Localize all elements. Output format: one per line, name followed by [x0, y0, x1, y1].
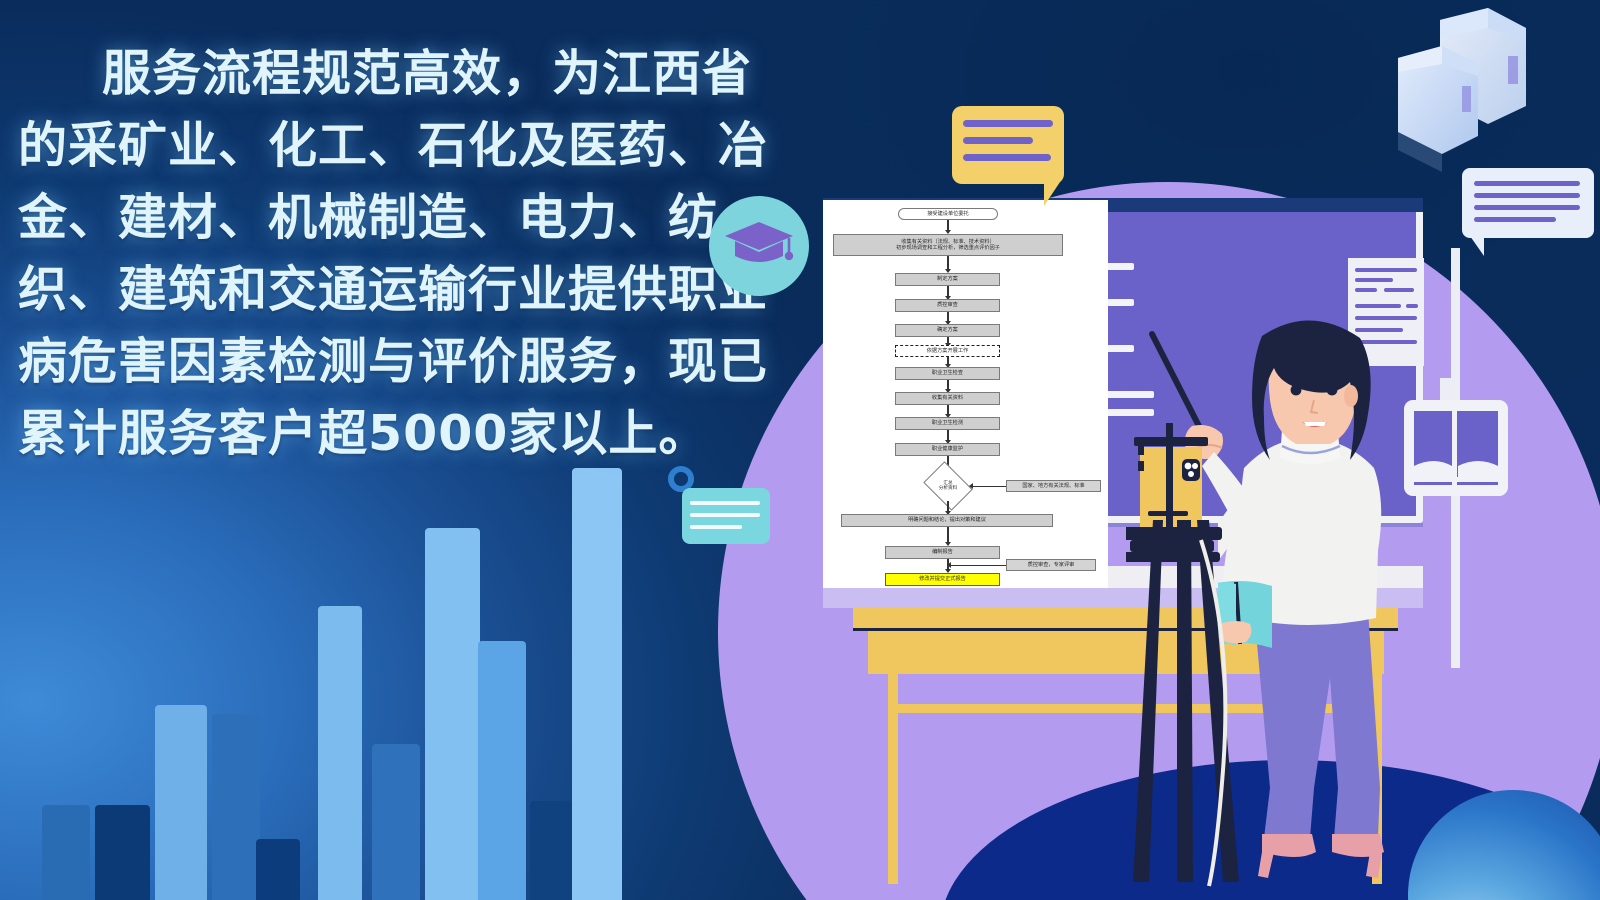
- speech-bubble-tail: [1044, 182, 1060, 206]
- chart-bar: [425, 528, 480, 900]
- chart-bar: [530, 801, 578, 900]
- books-icon: [1380, 6, 1530, 181]
- flow-node-n11-label: 汇总 分析资料: [939, 481, 957, 492]
- chart-bar: [42, 805, 90, 900]
- chart-bar: [212, 714, 260, 900]
- chart-bar: [256, 839, 300, 900]
- flow-node-n4: 质控审查: [895, 299, 1000, 312]
- flowchart-panel: 接受建设单位委托 收集有关资料（法规、标准、技术资料） 初步现场调查和工程分析，…: [823, 200, 1108, 588]
- flow-node-n12: 国家、地方有关法规、标准: [1006, 480, 1101, 492]
- flow-node-n3: 制定方案: [895, 273, 1000, 286]
- flow-node-n2: 收集有关资料（法规、标准、技术资料） 初步现场调查和工程分析，筛选重点评价因子: [833, 234, 1063, 256]
- document-bubble-icon: [1462, 168, 1594, 238]
- chart-bar: [318, 606, 362, 900]
- flow-node-n8: 收集有关资料: [895, 392, 1000, 405]
- document-bubble-tail: [1470, 236, 1484, 256]
- chart-bar: [572, 468, 622, 900]
- background-bar-chart: [0, 440, 700, 900]
- tripod-stand: [1105, 520, 1255, 890]
- chart-bar: [95, 805, 150, 900]
- flow-node-n11: 汇总 分析资料: [928, 471, 968, 501]
- flow-node-n10: 职业健康监护: [895, 443, 1000, 456]
- page-title: 服务流程规范高效，为江西省的采矿业、化工、石化及医药、冶金、建材、机械制造、电力…: [18, 38, 778, 470]
- flow-node-n13: 明确问题和结论，提出对策和建议: [841, 514, 1053, 527]
- poster-canvas: 接受建设单位委托 收集有关资料（法规、标准、技术资料） 初步现场调查和工程分析，…: [0, 0, 1600, 900]
- graduation-cap-badge: [709, 196, 809, 296]
- flow-node-n16: 修改并提交正式报告: [885, 573, 1000, 586]
- flow-node-n7: 职业卫生检查: [895, 367, 1000, 380]
- chart-bar: [372, 744, 420, 900]
- flow-node-n14: 编制报告: [885, 546, 1000, 559]
- flow-node-n5: 确定方案: [895, 324, 1000, 337]
- speech-bubble-icon: [952, 106, 1064, 184]
- note-card-icon: [682, 488, 770, 544]
- flow-node-n1: 接受建设单位委托: [898, 208, 998, 220]
- workflow-flowchart: 接受建设单位委托 收集有关资料（法规、标准、技术资料） 初步现场调查和工程分析，…: [823, 200, 1108, 588]
- flow-node-n9: 职业卫生检测: [895, 417, 1000, 430]
- flow-node-n15: 质控审查，专家评审: [1006, 559, 1096, 571]
- graduation-cap-icon: [723, 220, 795, 270]
- chart-bar: [478, 641, 526, 900]
- chart-bar: [155, 705, 207, 900]
- flow-node-n6: 依据方案开展工作: [895, 345, 1000, 357]
